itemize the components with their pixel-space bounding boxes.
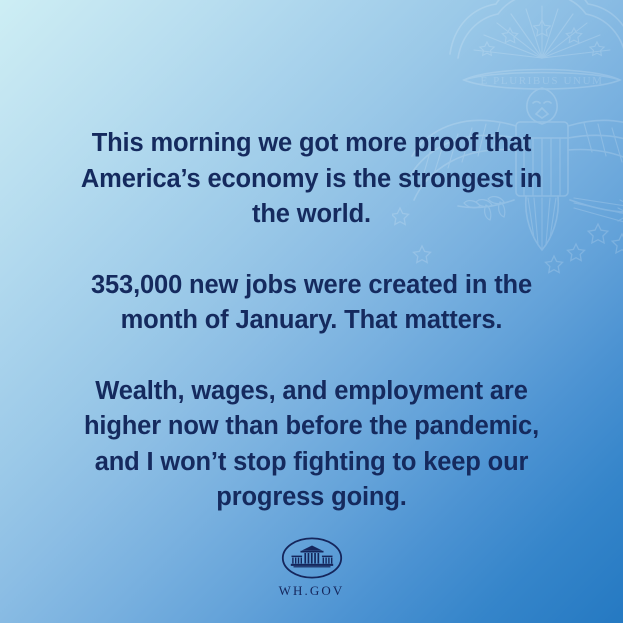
quote-text-block: This morning we got more proof that Amer… <box>0 0 623 516</box>
quote-paragraph-1: This morning we got more proof that Amer… <box>62 126 562 233</box>
white-house-icon <box>281 537 343 579</box>
social-quote-card: E PLURIBUS UNUM <box>0 0 623 623</box>
footer-branding: WH.GOV <box>0 537 623 599</box>
quote-paragraph-3: Wealth, wages, and employment are higher… <box>62 374 562 516</box>
quote-paragraph-2: 353,000 new jobs were created in the mon… <box>62 268 562 339</box>
wh-gov-label: WH.GOV <box>0 583 623 599</box>
